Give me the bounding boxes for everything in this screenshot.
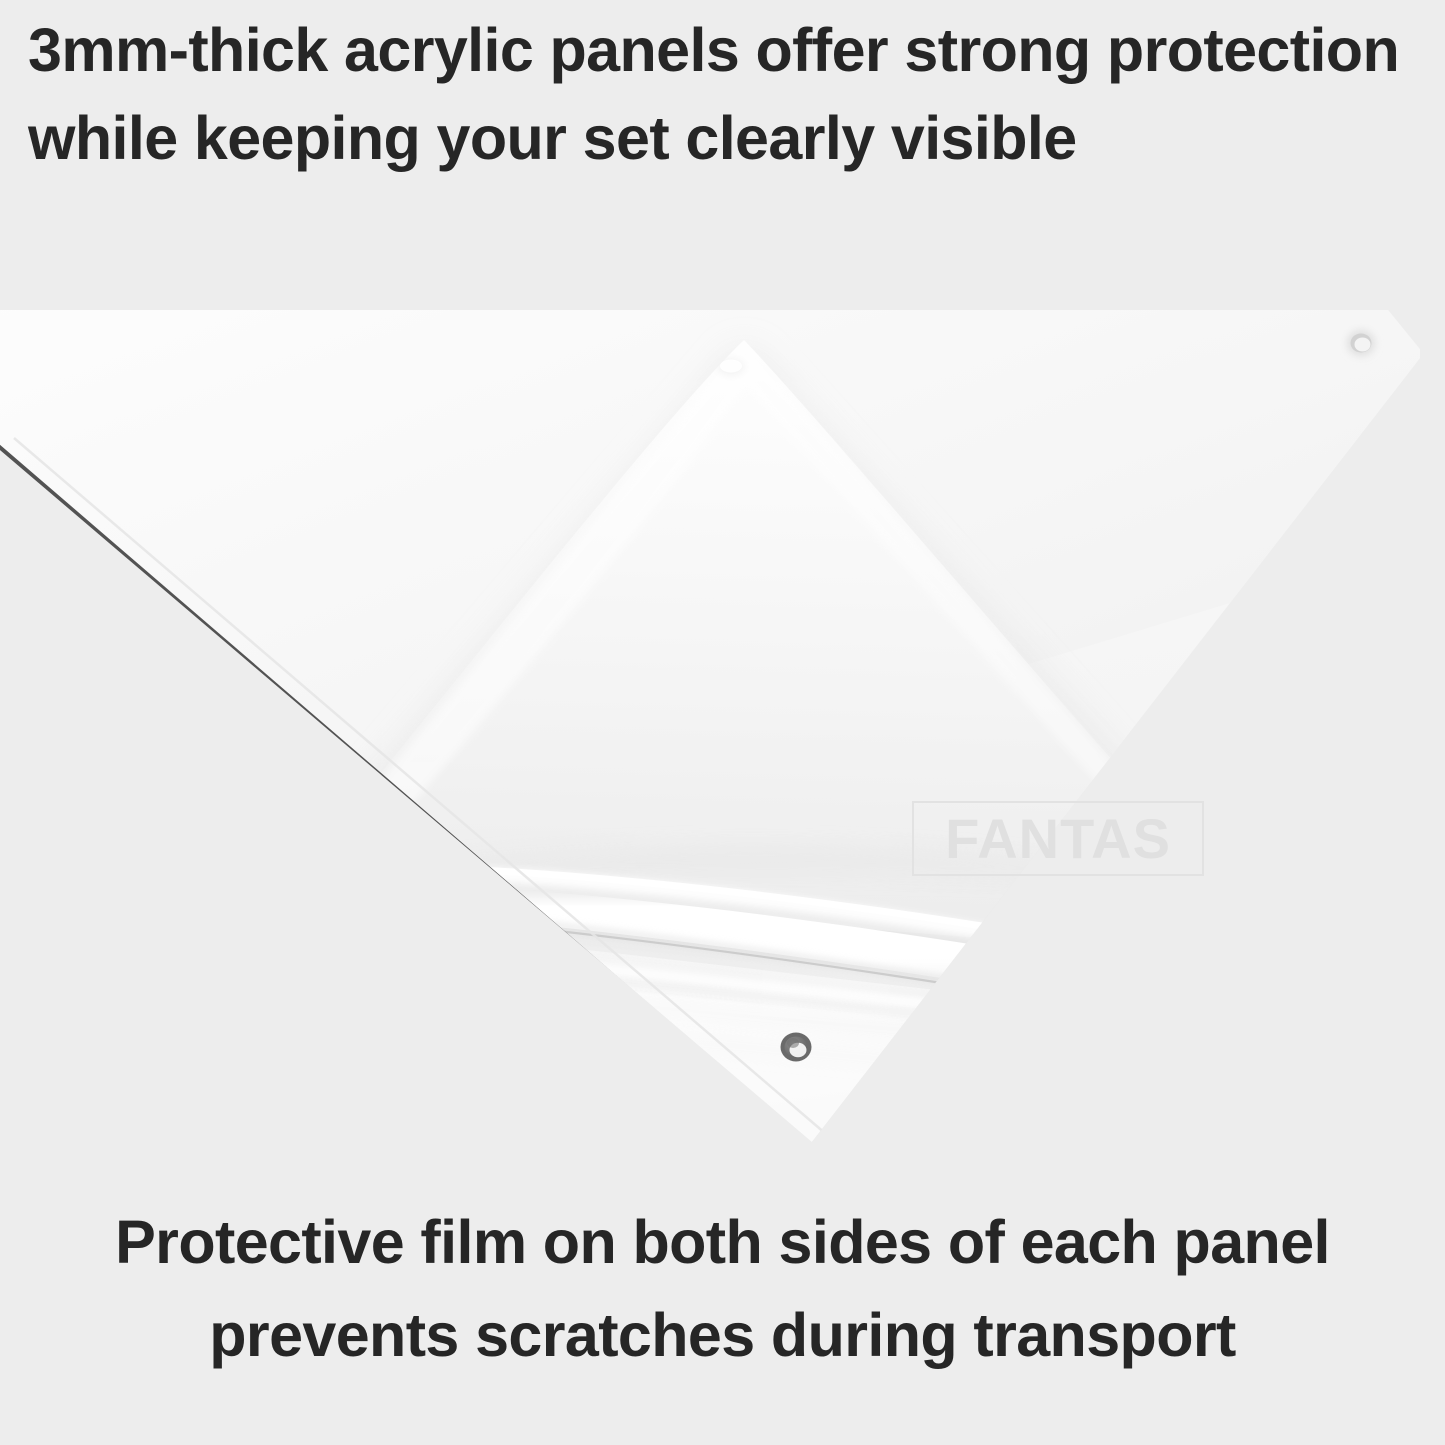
acrylic-panel-illustration [0,310,1445,1150]
mounting-hole-bottom [781,1033,812,1062]
mounting-hole-top-right [1347,330,1375,356]
product-feature-card: 3mm-thick acrylic panels offer strong pr… [0,0,1445,1445]
caption-text: Protective film on both sides of each pa… [0,1196,1445,1382]
product-photo: FANTAS [0,310,1445,1150]
page-title: 3mm-thick acrylic panels offer strong pr… [0,0,1445,182]
